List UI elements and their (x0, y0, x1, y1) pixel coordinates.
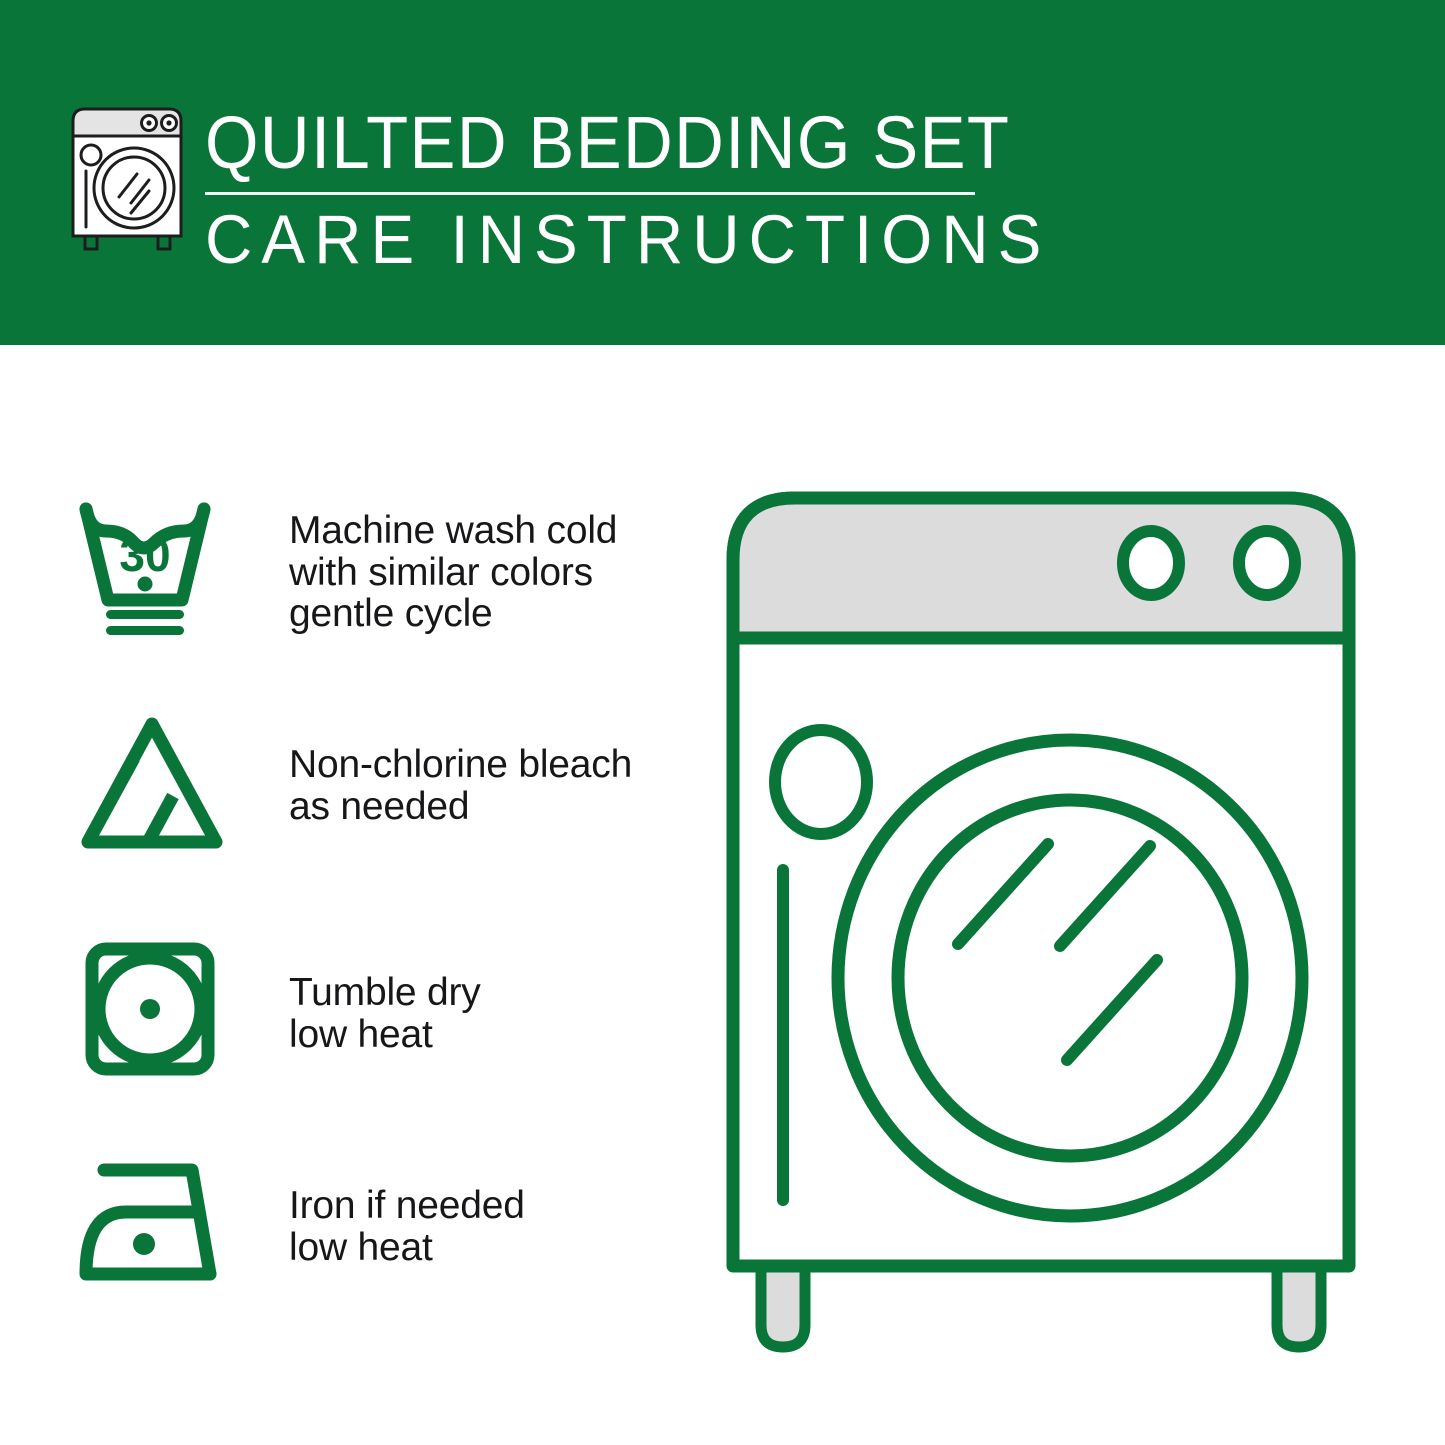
care-line: Machine wash cold (289, 510, 617, 552)
page-title: QUILTED BEDDING SET (205, 104, 940, 182)
wash-temperature-label: 30 (119, 529, 170, 581)
care-line: Non-chlorine bleach (289, 744, 632, 786)
title-divider (205, 192, 975, 195)
care-line: low heat (289, 1227, 525, 1269)
tumble-dry-low-icon (72, 935, 232, 1085)
non-chlorine-bleach-triangle-icon (72, 710, 232, 860)
care-instructions-infographic: QUILTED BEDDING SET CARE INSTRUCTIONS 30 (0, 0, 1445, 1445)
care-line: low heat (289, 1014, 481, 1056)
care-line: with similar colors (289, 552, 617, 594)
iron-low-heat-icon (72, 1150, 232, 1300)
header-text-block: QUILTED BEDDING SET CARE INSTRUCTIONS (205, 104, 995, 276)
wash-tub-30-icon: 30 (72, 495, 232, 645)
care-line: gentle cycle (289, 593, 617, 635)
leg-right (1277, 1260, 1321, 1347)
care-line: as needed (289, 786, 632, 828)
care-line: Iron if needed (289, 1185, 525, 1227)
care-label-machine-wash: Machine wash cold with similar colors ge… (289, 510, 617, 635)
care-label-tumble-dry: Tumble dry low heat (289, 972, 481, 1055)
care-label-iron: Iron if needed low heat (289, 1185, 525, 1268)
care-label-bleach: Non-chlorine bleach as needed (289, 744, 632, 827)
page-subtitle: CARE INSTRUCTIONS (205, 204, 956, 276)
leg-left (761, 1260, 805, 1347)
front-load-washing-machine-illustration (715, 470, 1415, 1370)
care-line: Tumble dry (289, 972, 481, 1014)
washing-machine-logo-icon (63, 103, 191, 255)
header-banner: QUILTED BEDDING SET CARE INSTRUCTIONS (0, 0, 1445, 345)
